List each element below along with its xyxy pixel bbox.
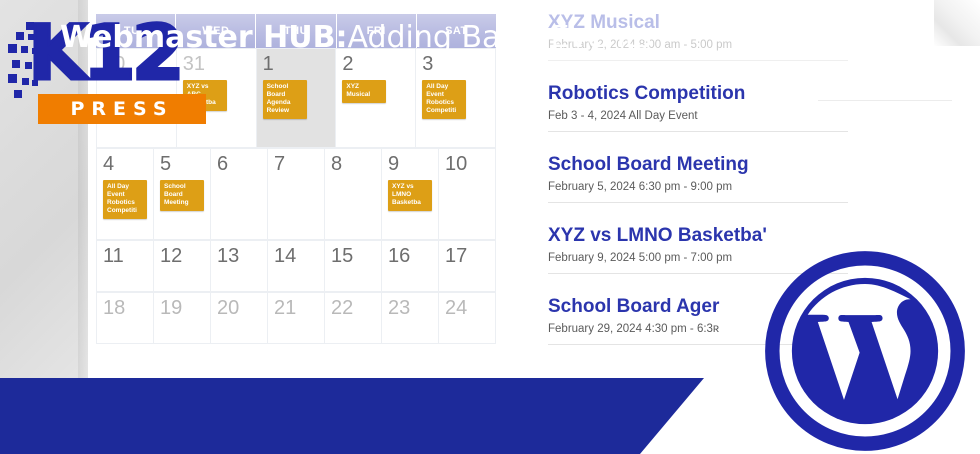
calendar-day-number: 12 — [160, 246, 204, 266]
calendar-day-number: 5 — [160, 154, 204, 174]
calendar-day-number: 7 — [274, 154, 318, 174]
calendar-day-number: 17 — [445, 246, 489, 266]
calendar-day-cell-23[interactable]: 23 — [382, 292, 439, 343]
calendar-day-cell-11[interactable]: 11 — [97, 240, 154, 291]
calendar-day-cell-5[interactable]: 5School Board Meeting — [154, 148, 211, 239]
logo-word-text: PRESS — [38, 94, 206, 124]
event-list-item[interactable]: School Board MeetingFebruary 5, 2024 6:3… — [548, 152, 848, 223]
event-title-link[interactable]: School Board Meeting — [548, 152, 848, 178]
calendar-event-badge[interactable]: All Day Event Robotics Competiti — [103, 180, 147, 219]
calendar-day-number: 11 — [103, 246, 147, 266]
title-banner-text: Webmaster HUB: Adding Basic Events — [60, 0, 652, 76]
calendar-day-number: 9 — [388, 154, 432, 174]
calendar-day-number: 4 — [103, 154, 147, 174]
calendar-day-cell-12[interactable]: 12 — [154, 240, 211, 291]
calendar-day-cell-20[interactable]: 20 — [211, 292, 268, 343]
calendar-day-number: 8 — [331, 154, 375, 174]
calendar-day-number: 15 — [331, 246, 375, 266]
calendar-day-cell-4[interactable]: 4All Day Event Robotics Competiti — [97, 148, 154, 239]
calendar-day-cell-21[interactable]: 21 — [268, 292, 325, 343]
calendar-day-cell-22[interactable]: 22 — [325, 292, 382, 343]
calendar-event-badge[interactable]: School Board Agenda Review — [263, 80, 307, 119]
event-title-link[interactable]: Robotics Competition — [548, 81, 848, 107]
calendar-week-row: 4All Day Event Robotics Competiti5School… — [97, 148, 496, 240]
calendar-day-cell-9[interactable]: 9XYZ vs LMNO Basketba — [382, 148, 439, 239]
calendar-day-number: 18 — [103, 298, 147, 318]
event-separator — [548, 131, 848, 132]
calendar-event-badge[interactable]: XYZ Musical — [342, 80, 386, 103]
calendar-week-row: 11121314151617 — [97, 240, 496, 292]
calendar-day-number: 23 — [388, 298, 432, 318]
calendar-event-badge[interactable]: School Board Meeting — [160, 180, 204, 211]
page-curl-decoration — [934, 0, 980, 46]
calendar-day-cell-8[interactable]: 8 — [325, 148, 382, 239]
calendar-day-number: 16 — [388, 246, 432, 266]
calendar-day-cell-13[interactable]: 13 — [211, 240, 268, 291]
calendar-day-cell-17[interactable]: 17 — [439, 240, 496, 291]
calendar-day-cell-10[interactable]: 10 — [439, 148, 496, 239]
calendar-day-cell-18[interactable]: 18 — [97, 292, 154, 343]
event-date-range: February 5, 2024 6:30 pm - 9:00 pm — [548, 178, 848, 202]
calendar-day-number: 22 — [331, 298, 375, 318]
banner-title-bold: Webmaster HUB: — [60, 21, 347, 55]
calendar-day-number: 24 — [445, 298, 489, 318]
calendar-day-number: 20 — [217, 298, 261, 318]
event-date-range: Feb 3 - 4, 2024 All Day Event — [548, 107, 848, 131]
banner-title-rest: Adding Basic Events — [347, 21, 652, 55]
wordpress-logo-icon — [762, 248, 968, 454]
calendar-week-row: 18192021222324 — [97, 292, 496, 344]
calendar-day-number: 21 — [274, 298, 318, 318]
title-banner — [0, 378, 704, 454]
calendar-event-badge[interactable]: All Day Event Robotics Competiti — [422, 80, 466, 119]
calendar-day-number: 6 — [217, 154, 261, 174]
calendar-day-number: 10 — [445, 154, 489, 174]
calendar-day-cell-6[interactable]: 6 — [211, 148, 268, 239]
event-separator — [548, 202, 848, 203]
calendar-day-cell-14[interactable]: 14 — [268, 240, 325, 291]
event-title-link[interactable]: XYZ vs LMNO Basketba' — [548, 223, 848, 249]
calendar-event-badge[interactable]: XYZ vs LMNO Basketba — [388, 180, 432, 211]
calendar-day-cell-19[interactable]: 19 — [154, 292, 211, 343]
calendar-day-cell-24[interactable]: 24 — [439, 292, 496, 343]
calendar-day-number: 19 — [160, 298, 204, 318]
calendar-day-number: 14 — [274, 246, 318, 266]
calendar-day-number: 13 — [217, 246, 261, 266]
event-list-item[interactable]: Robotics CompetitionFeb 3 - 4, 2024 All … — [548, 81, 848, 152]
calendar-day-cell-16[interactable]: 16 — [382, 240, 439, 291]
screenshot-root: TUEWEDTHUFRISAT 3031XYZ vs ABC Basketba1… — [0, 0, 980, 454]
calendar-day-cell-7[interactable]: 7 — [268, 148, 325, 239]
calendar-day-cell-15[interactable]: 15 — [325, 240, 382, 291]
